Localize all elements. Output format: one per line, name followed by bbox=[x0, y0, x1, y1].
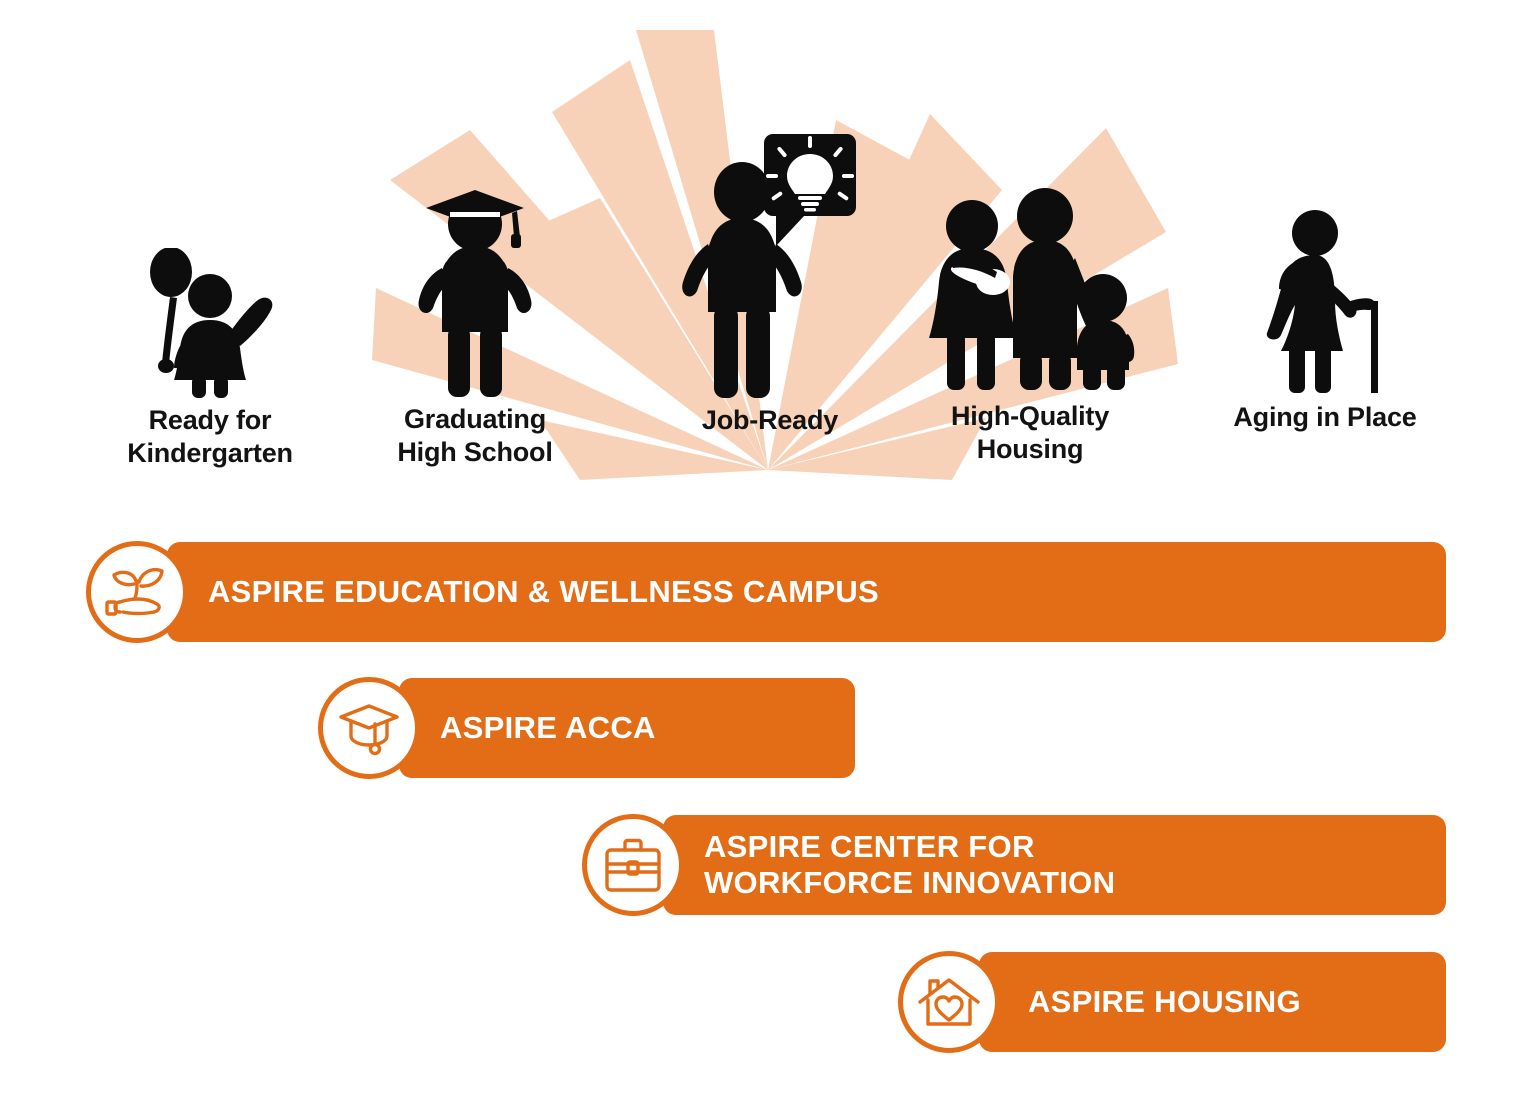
hand-holding-sprout-icon bbox=[86, 541, 188, 643]
persona-label: Job-Ready bbox=[702, 404, 838, 437]
program-bar-label: ASPIRE EDUCATION & WELLNESS CAMPUS bbox=[208, 542, 879, 642]
persona-continuum: Ready for Kindergarten bbox=[0, 0, 1536, 500]
persona-label: Aging in Place bbox=[1233, 401, 1416, 434]
persona-job-ready: Job-Ready bbox=[645, 130, 895, 437]
graduation-cap-icon bbox=[318, 677, 420, 779]
toddler-with-balloon-figure bbox=[144, 248, 276, 398]
program-bar-aspire-housing[interactable]: ASPIRE HOUSING bbox=[898, 952, 1446, 1052]
briefcase-icon bbox=[582, 814, 684, 916]
persona-label: High-Quality Housing bbox=[951, 400, 1109, 466]
program-bar-label: ASPIRE ACCA bbox=[440, 678, 656, 778]
adult-with-idea-bubble-figure bbox=[680, 130, 860, 398]
family-group-figure bbox=[925, 182, 1135, 394]
program-bar-center-for-workforce-innovation[interactable]: ASPIRE CENTER FOR WORKFORCE INNOVATION bbox=[582, 815, 1446, 915]
program-bars: ASPIRE EDUCATION & WELLNESS CAMPUS bbox=[0, 520, 1536, 1080]
infographic-canvas: Ready for Kindergarten bbox=[0, 0, 1536, 1097]
persona-high-quality-housing: High-Quality Housing bbox=[910, 182, 1150, 466]
program-bar-label: ASPIRE CENTER FOR WORKFORCE INNOVATION bbox=[704, 815, 1115, 915]
program-bar-aspire-acca[interactable]: ASPIRE ACCA bbox=[318, 678, 855, 778]
house-with-heart-icon bbox=[898, 951, 1000, 1053]
persona-label: Ready for Kindergarten bbox=[127, 404, 293, 470]
program-bar-label: ASPIRE HOUSING bbox=[1028, 952, 1301, 1052]
persona-graduating-high-school: Graduating High School bbox=[375, 182, 575, 469]
persona-label: Graduating High School bbox=[397, 403, 552, 469]
program-bar-education-wellness-campus[interactable]: ASPIRE EDUCATION & WELLNESS CAMPUS bbox=[86, 542, 1446, 642]
graduate-figure bbox=[416, 182, 534, 397]
senior-with-cane-figure bbox=[1259, 205, 1391, 395]
persona-aging-in-place: Aging in Place bbox=[1225, 205, 1425, 434]
persona-ready-for-kindergarten: Ready for Kindergarten bbox=[110, 248, 310, 470]
